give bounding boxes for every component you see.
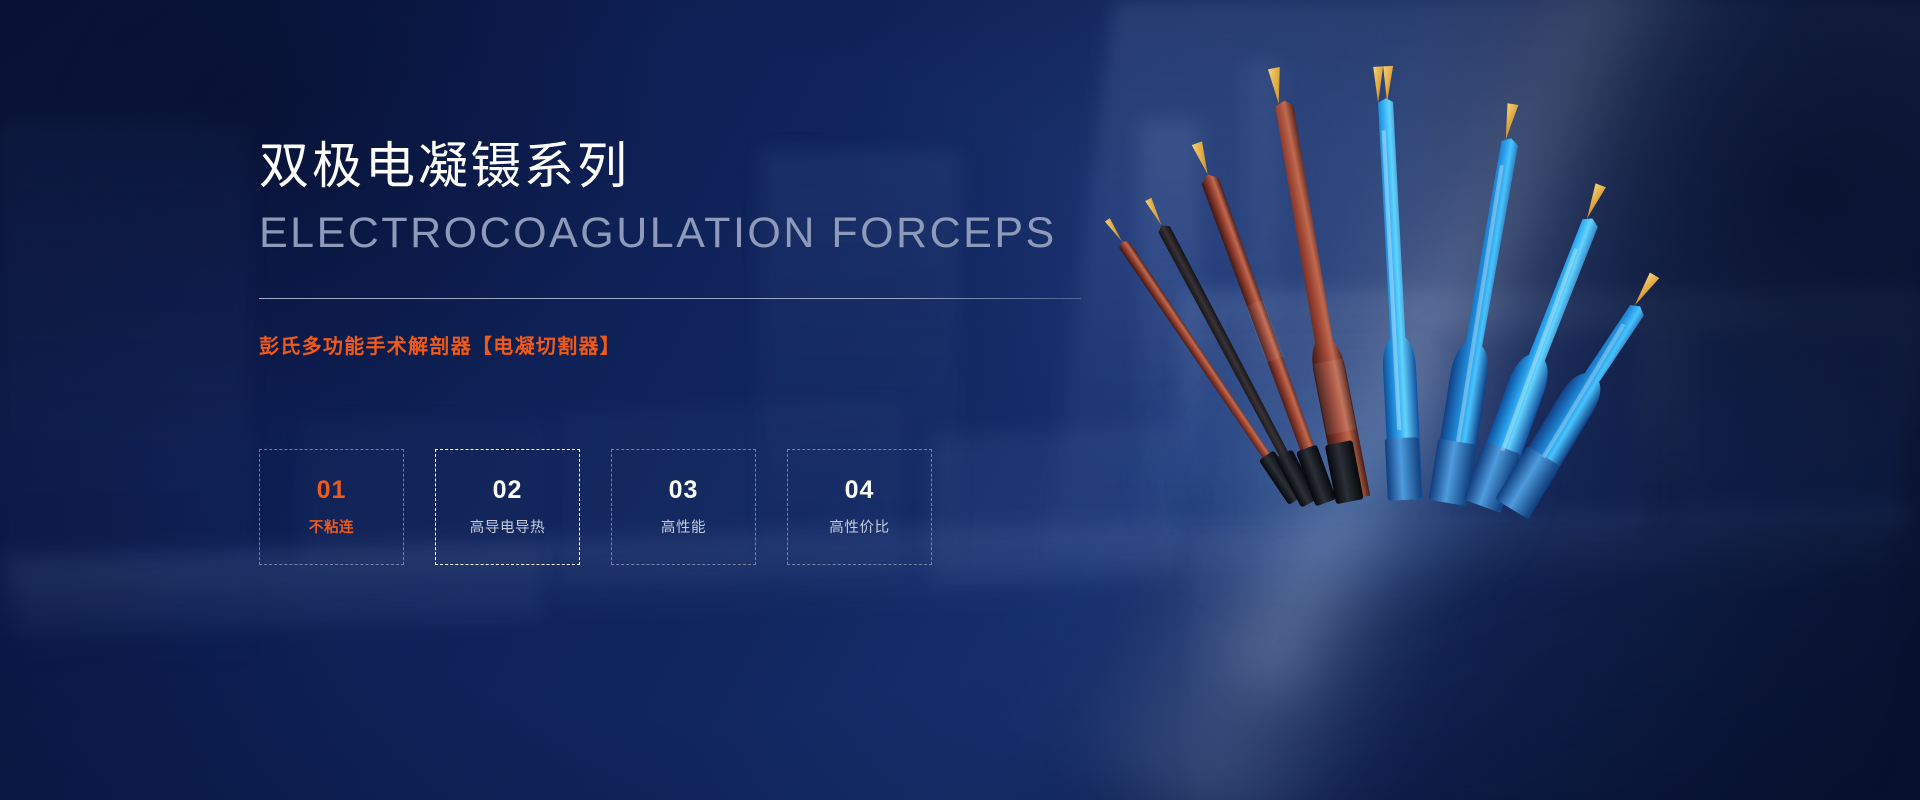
- forceps-group-red: [1100, 66, 1371, 508]
- feature-number: 02: [493, 478, 523, 503]
- feature-label: 不粘连: [309, 521, 354, 536]
- feature-number: 01: [317, 478, 347, 503]
- title-divider: [259, 298, 1081, 299]
- electrocoagulation-forceps-image: [1050, 40, 1610, 600]
- feature-number: 04: [845, 478, 875, 503]
- feature-list: 01 不粘连 02 高导电导热 03 高性能 04 高性价比: [259, 449, 932, 565]
- feature-card-03[interactable]: 03 高性能: [611, 449, 756, 565]
- feature-number: 03: [669, 478, 699, 503]
- feature-card-04[interactable]: 04 高性价比: [787, 449, 932, 565]
- feature-label: 高性价比: [829, 521, 889, 536]
- page-title-cn: 双极电凝镊系列: [259, 141, 630, 191]
- feature-card-01[interactable]: 01 不粘连: [259, 449, 404, 565]
- forceps-svg: [1050, 40, 1610, 600]
- feature-label: 高导电导热: [470, 521, 546, 536]
- product-subtitle: 彭氏多功能手术解剖器【电凝切割器】: [259, 337, 621, 357]
- feature-card-02[interactable]: 02 高导电导热: [435, 449, 580, 565]
- product-banner: 双极电凝镊系列 ELECTROCOAGULATION FORCEPS 彭氏多功能…: [0, 0, 1920, 800]
- feature-label: 高性能: [661, 521, 706, 536]
- banner-content: 双极电凝镊系列 ELECTROCOAGULATION FORCEPS 彭氏多功能…: [0, 0, 1100, 800]
- bg-shape-cabinet-right: [1690, 330, 1900, 530]
- page-title-en: ELECTROCOAGULATION FORCEPS: [259, 212, 1057, 255]
